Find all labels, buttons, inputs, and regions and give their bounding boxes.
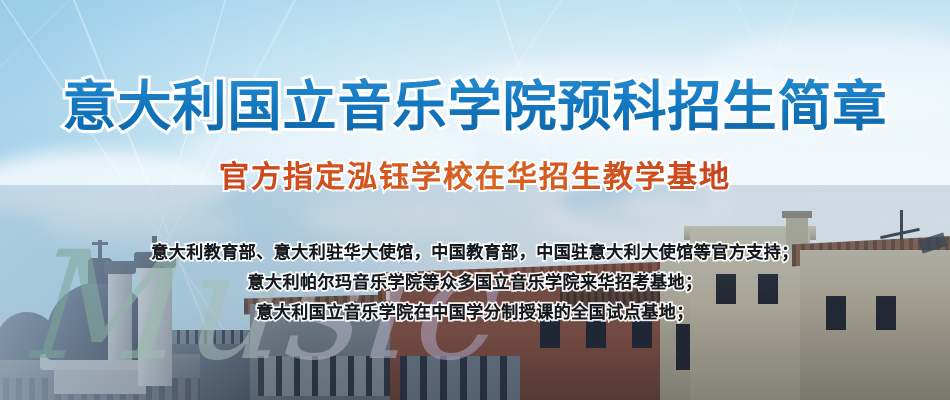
banner-body-lines: 意大利教育部、意大利驻华大使馆，中国教育部，中国驻意大利大使馆等官方支持； 意大… [0,238,950,328]
body-line: 意大利帕尔玛音乐学院等众多国立音乐学院来华招考基地； 意大利帕尔玛音乐学院等众多… [0,268,950,298]
body-line: 意大利国立音乐学院在中国学分制授课的全国试点基地； 意大利国立音乐学院在中国学分… [0,298,950,328]
body-line-2-stroke: 意大利帕尔玛音乐学院等众多国立音乐学院来华招考基地； [0,268,950,293]
promo-banner: Music 意大利国立音乐学院预科招生简章 意大利国立音乐学院预科招生简章 官方… [0,0,950,400]
banner-title-stroke: 意大利国立音乐学院预科招生简章 [0,62,950,141]
chimney-cap [782,211,812,218]
banner-subtitle-stroke: 官方指定泓钰学校在华招生教学基地 [0,152,950,196]
building-arcade [258,356,408,396]
antenna [900,210,903,240]
body-line-1-stroke: 意大利教育部、意大利驻华大使馆，中国教育部，中国驻意大利大使馆等官方支持； [0,238,950,263]
palazzo-arcade [400,356,520,400]
body-line-3-stroke: 意大利国立音乐学院在中国学分制授课的全国试点基地； [0,298,950,323]
body-line: 意大利教育部、意大利驻华大使馆，中国教育部，中国驻意大利大使馆等官方支持； 意大… [0,238,950,268]
